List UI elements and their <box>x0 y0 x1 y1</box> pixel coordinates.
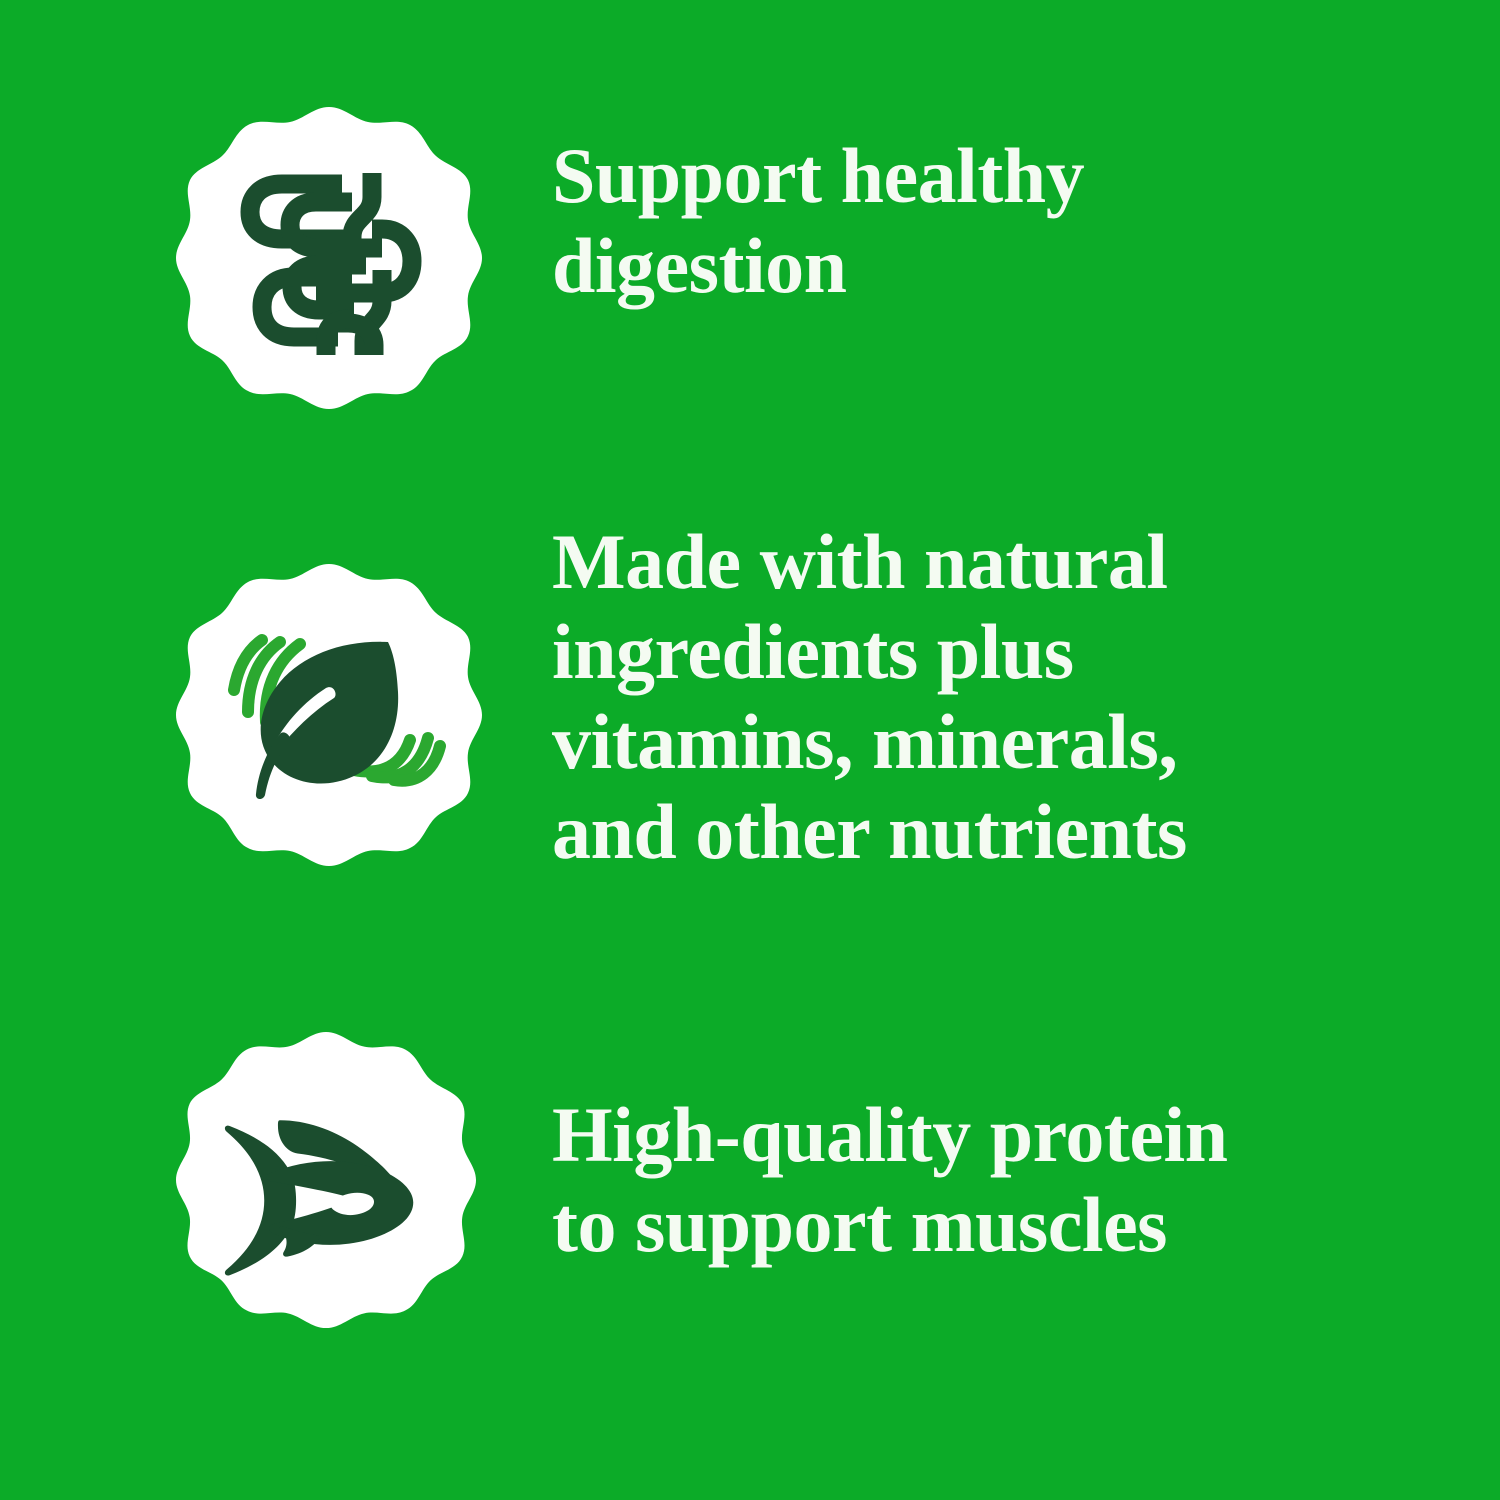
benefit-text-digestion: Support healthy digestion <box>552 131 1432 311</box>
benefit-row: Made with natural ingredients plus vitam… <box>0 562 1500 872</box>
benefit-row: Support healthy digestion <box>0 105 1500 415</box>
benefit-text-protein: High-quality protein to support muscles <box>552 1090 1432 1270</box>
benefit-row: High-quality protein to support muscles <box>0 1018 1500 1338</box>
badge-natural-ingredients <box>176 562 482 868</box>
benefit-text-natural-ingredients: Made with natural ingredients plus vitam… <box>552 517 1432 877</box>
badge-digestion <box>176 105 482 411</box>
badge-protein <box>176 1022 476 1338</box>
benefits-poster: Support healthy digestion <box>0 0 1500 1500</box>
